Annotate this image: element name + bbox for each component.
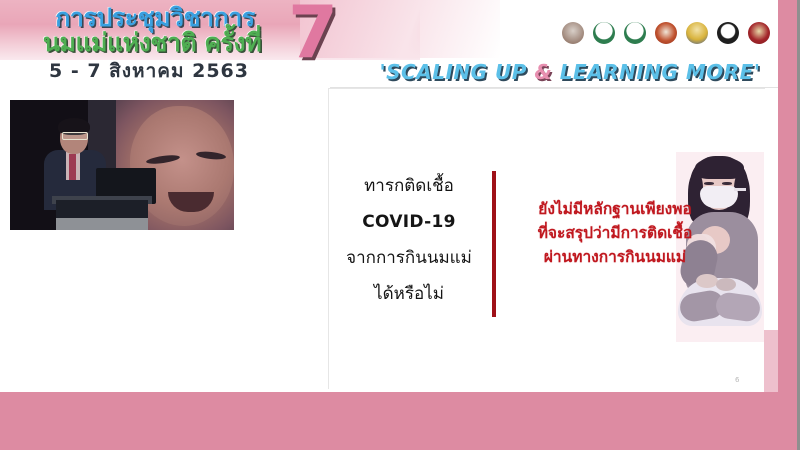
frame-bottom-strip [0, 392, 800, 450]
national-institute-logo [715, 18, 741, 48]
question-line-1: ทารกติดเชื้อ [336, 168, 482, 204]
answer-line-2: ที่จะสรุปว่ามีการติดเชื้อ [500, 221, 730, 245]
answer-text-block: ยังไม่มีหลักฐานเพียงพอ ที่จะสรุปว่ามีการ… [500, 197, 730, 269]
conference-edition-number: 7 [288, 0, 338, 68]
tagline-part-2: LEARNING MORE' [552, 60, 760, 84]
university-emblem-logo [746, 18, 772, 48]
mother-right-hand [716, 278, 736, 291]
answer-line-3: ผ่านทางการกินนมแม่ [500, 245, 730, 269]
ministry-public-health-logo [591, 18, 617, 48]
conference-title-line2: นมแม่แห่งชาติ ครั้งที่ [14, 29, 290, 56]
question-line-4: ได้หรือไม่ [336, 276, 482, 312]
conference-tagline: 'SCALING UP & LEARNING MORE' [360, 60, 780, 84]
banner-bottom-rule [330, 87, 779, 88]
royal-garuda-logo [684, 18, 710, 48]
question-text-block: ทารกติดเชื้อ COVID-19 จากการกินนมแม่ ได้… [336, 168, 482, 312]
question-line-3: จากการกินนมแม่ [336, 240, 482, 276]
health-department-logo [622, 18, 648, 48]
tagline-part-1: 'SCALING UP [380, 60, 535, 84]
speaker-presentation-video[interactable] [10, 100, 234, 230]
mother-left-eye [704, 182, 714, 185]
organization-logos-row [560, 18, 800, 48]
royal-seal-logo [560, 18, 586, 48]
slide-presentation-screen: การประชุมวิชาการ นมแม่แห่งชาติ ครั้งที่ … [0, 0, 800, 450]
conference-date-range: 5 - 7 สิงหาคม 2563 [20, 60, 278, 82]
vertical-divider [492, 171, 496, 317]
speaker-tie [69, 154, 76, 180]
face-mask-strap [734, 188, 746, 191]
mother-left-hand [696, 274, 718, 288]
answer-line-1: ยังไม่มีหลักฐานเพียงพอ [500, 197, 730, 221]
mother-right-eye [722, 182, 732, 185]
slide-number: 6 [735, 376, 739, 384]
conference-title-line1: การประชุมวิชาการ [20, 4, 290, 31]
speaker-glasses [62, 132, 88, 140]
thai-breastfeeding-logo [653, 18, 679, 48]
tagline-ampersand: & [534, 60, 552, 84]
podium-base [56, 218, 148, 230]
question-line-2: COVID-19 [336, 204, 482, 240]
